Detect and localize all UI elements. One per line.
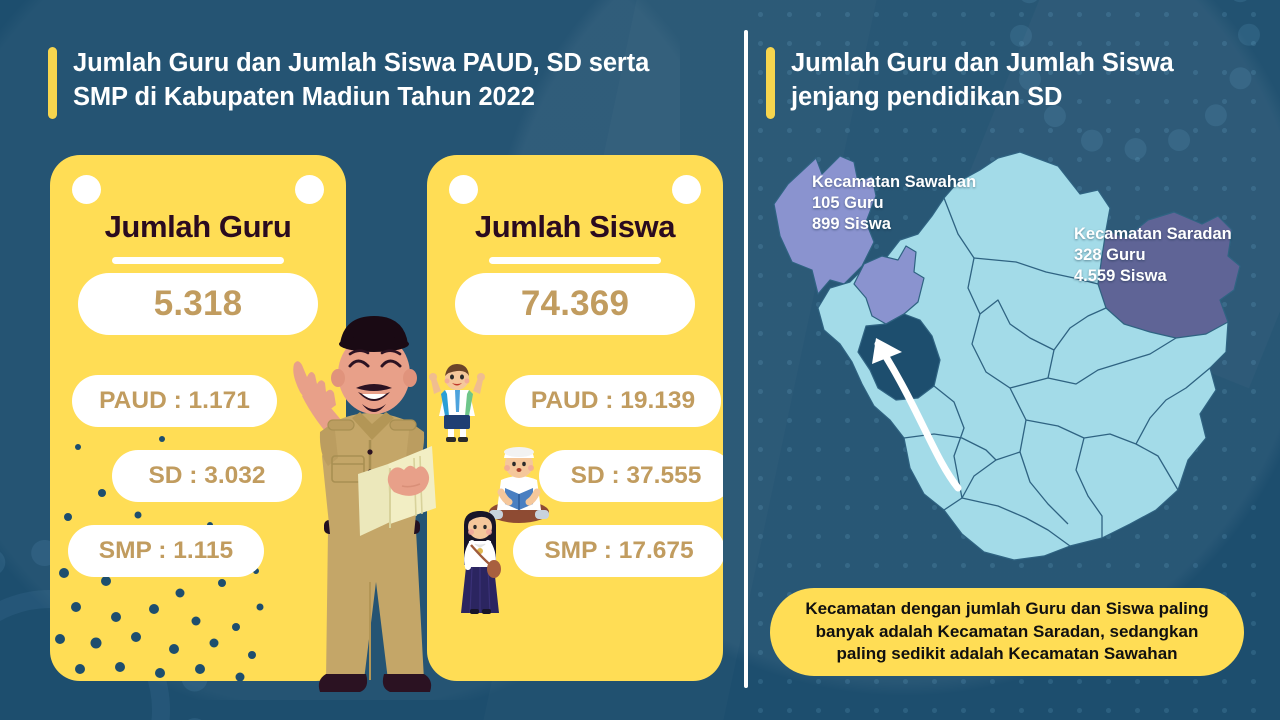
card-heading-underline [112,257,284,264]
stat-row-paud: PAUD : 1.171 [72,375,277,427]
panel-divider [744,30,748,688]
right-panel-title: Jumlah Guru dan Jumlah Siswa jenjang pen… [766,47,1236,119]
stat-row-paud: PAUD : 19.139 [505,375,721,427]
left-panel-title: Jumlah Guru dan Jumlah Siswa PAUD, SD se… [48,47,718,119]
left-panel-title-text: Jumlah Guru dan Jumlah Siswa PAUD, SD se… [73,47,649,114]
map-label-saradan: Kecamatan Saradan 328 Guru 4.559 Siswa [1074,224,1232,287]
card-total-value: 74.369 [455,273,695,335]
card-punch-hole-left [72,175,101,204]
stat-row-sd: SD : 3.032 [112,450,302,502]
card-punch-hole-left [449,175,478,204]
right-panel-title-text: Jumlah Guru dan Jumlah Siswa jenjang pen… [791,47,1174,114]
stat-row-smp: SMP : 1.115 [68,525,264,577]
summary-note-text: Kecamatan dengan jumlah Guru dan Siswa p… [805,598,1208,667]
stat-card-jumlah-siswa: Jumlah Siswa 74.369 PAUD : 19.139 SD : 3… [427,155,723,681]
card-heading: Jumlah Siswa [427,209,723,245]
title-accent-bar [766,47,775,119]
summary-note-box: Kecamatan dengan jumlah Guru dan Siswa p… [770,588,1244,676]
card-punch-hole-right [295,175,324,204]
card-heading-underline [489,257,661,264]
stat-row-sd: SD : 37.555 [539,450,723,502]
card-total-value: 5.318 [78,273,318,335]
stat-card-jumlah-guru: Jumlah Guru 5.318 PAUD : 1.171 SD : 3.03… [50,155,346,681]
card-heading: Jumlah Guru [50,209,346,245]
title-accent-bar [48,47,57,119]
stat-row-smp: SMP : 17.675 [513,525,723,577]
infographic-canvas: Jumlah Guru dan Jumlah Siswa PAUD, SD se… [0,0,1280,720]
card-punch-hole-right [672,175,701,204]
map-label-sawahan: Kecamatan Sawahan 105 Guru 899 Siswa [812,172,976,235]
